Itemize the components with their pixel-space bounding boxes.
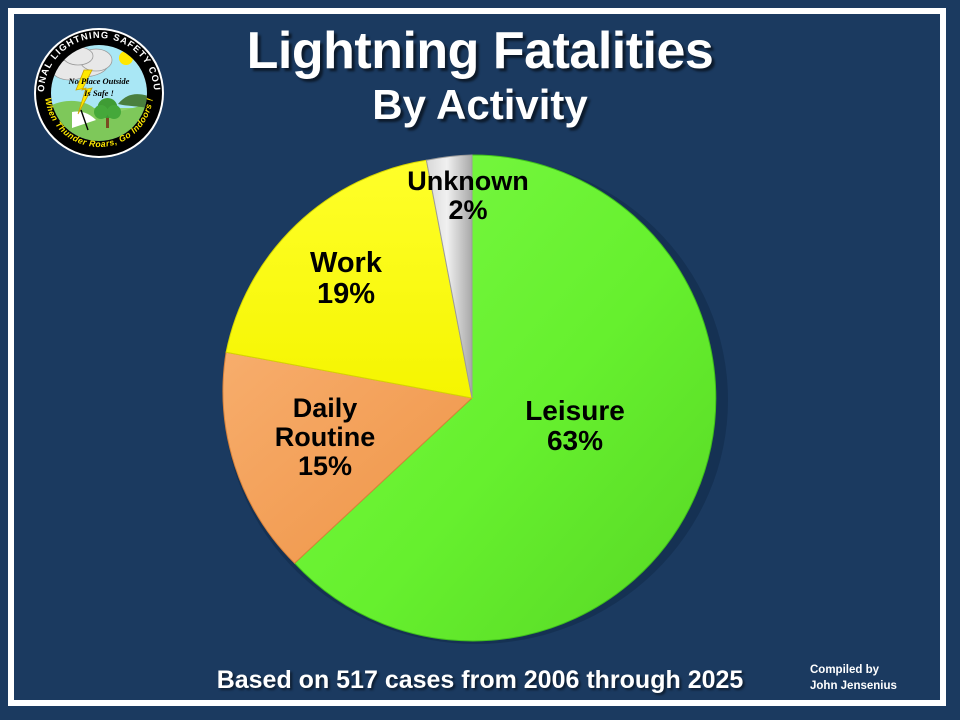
pie-label-daily-name-line2: Routine (250, 423, 400, 452)
pie-label-unknown: Unknown 2% (388, 167, 548, 225)
slide-canvas: No Place Outside Is Safe ! NATIONAL LIGH… (0, 0, 960, 720)
credit-line-1: Compiled by (810, 662, 938, 678)
pie-chart (0, 0, 960, 720)
pie-label-unknown-percent: 2% (388, 196, 548, 225)
credit-line-2: John Jensenius (810, 678, 938, 694)
pie-label-leisure-percent: 63% (490, 426, 660, 456)
credit-block: Compiled by John Jensenius (810, 662, 938, 694)
pie-label-daily-routine: Daily Routine 15% (250, 394, 400, 481)
pie-label-work-percent: 19% (276, 279, 416, 310)
pie-label-work: Work 19% (276, 248, 416, 311)
pie-label-work-name: Work (276, 248, 416, 279)
pie-label-daily-percent: 15% (250, 452, 400, 481)
pie-label-leisure: Leisure 63% (490, 396, 660, 456)
pie-label-unknown-name: Unknown (388, 167, 548, 196)
pie-label-daily-name-line1: Daily (250, 394, 400, 423)
pie-label-leisure-name: Leisure (490, 396, 660, 426)
